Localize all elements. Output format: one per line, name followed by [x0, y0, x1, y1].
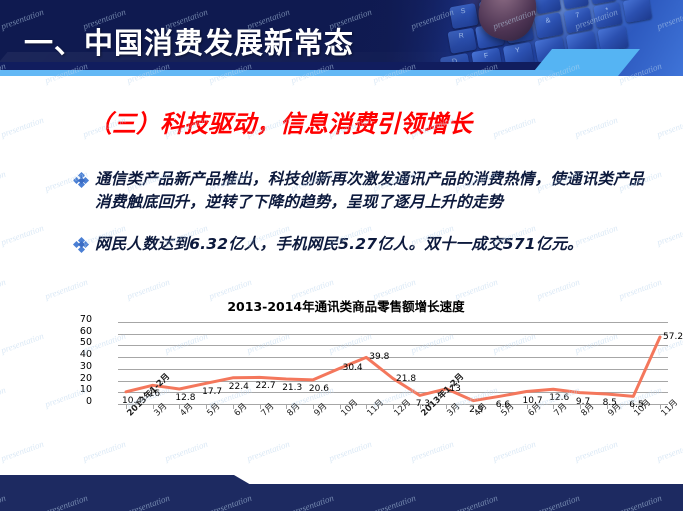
data-point-label: 22.7: [256, 381, 276, 391]
footer-left-block: [0, 475, 250, 511]
keyboard-key: [623, 0, 652, 23]
keyboard-key: &: [534, 12, 563, 38]
y-axis-tick-label: 40: [80, 350, 92, 360]
slide-header: S5^F7F8RT6&7*DFY 一、中国消费发展新常态: [0, 0, 683, 76]
keyboard-key: [597, 25, 628, 52]
data-point-label: 21.3: [282, 383, 302, 393]
watermark-text: presentation: [656, 115, 683, 140]
y-axis-labels: 010203040506070: [72, 320, 94, 406]
slide-footer: [0, 475, 683, 511]
slide-canvas: S5^F7F8RT6&7*DFY 一、中国消费发展新常态 （三）科技驱动，信息消…: [0, 0, 683, 511]
bullet-text: 网民人数达到6.32亿人，手机网民5.27亿人。双十一成交571亿元。: [95, 233, 654, 256]
y-axis-tick-label: 60: [80, 327, 92, 337]
watermark-text: presentation: [0, 223, 45, 248]
y-axis-tick-label: 50: [80, 338, 92, 348]
footer-right-block: [240, 484, 683, 511]
line-chart: 2013-2014年通讯类商品零售额增长速度 010203040506070 1…: [96, 296, 676, 476]
y-axis-tick-label: 70: [80, 315, 92, 325]
list-item: 通信类产品新产品推出，科技创新再次激发通讯产品的消费热情，使通讯类产品消费触底回…: [74, 168, 654, 215]
watermark-text: presentation: [0, 115, 45, 140]
y-axis-tick-label: 10: [80, 385, 92, 395]
data-point-label: 30.4: [343, 363, 363, 373]
watermark-text: presentation: [0, 331, 45, 356]
list-item: 网民人数达到6.32亿人，手机网民5.27亿人。双十一成交571亿元。: [74, 233, 654, 256]
y-axis-tick-label: 30: [80, 362, 92, 372]
bullet-list: 通信类产品新产品推出，科技创新再次激发通讯产品的消费热情，使通讯类产品消费触底回…: [74, 168, 654, 268]
watermark-text: presentation: [656, 223, 683, 248]
data-point-label: 17.7: [202, 387, 222, 397]
watermark-text: presentation: [574, 115, 619, 140]
diamond-bullet-icon: [74, 238, 88, 252]
watermark-text: presentation: [0, 439, 45, 464]
chart-title: 2013-2014年通讯类商品零售额增长速度: [96, 296, 596, 315]
section-subtitle: （三）科技驱动，信息消费引领增长: [88, 104, 472, 139]
y-axis-tick-label: 20: [80, 374, 92, 384]
data-point-label: 39.8: [369, 352, 389, 362]
watermark-text: presentation: [492, 115, 537, 140]
header-cyan-strip: [0, 70, 560, 76]
watermark-text: presentation: [0, 385, 7, 410]
data-point-label: 57.2: [663, 332, 683, 342]
x-axis-labels: 2013年1-2月3月4月5月6月7月8月9月10月11月12月2013年1-2…: [96, 408, 676, 470]
y-axis-tick-label: 0: [86, 397, 92, 407]
page-title: 一、中国消费发展新常态: [24, 20, 354, 62]
data-point-label: 22.4: [229, 382, 249, 392]
data-point-label: 21.8: [396, 374, 416, 384]
chart-data-labels: 10.41612.817.722.422.721.320.630.439.821…: [118, 322, 678, 408]
watermark-text: presentation: [44, 277, 89, 302]
watermark-text: presentation: [0, 277, 7, 302]
data-point-label: 20.6: [309, 384, 329, 394]
diamond-bullet-icon: [74, 173, 88, 187]
keyboard-key: *: [593, 2, 622, 28]
bullet-text: 通信类产品新产品推出，科技创新再次激发通讯产品的消费热情，使通讯类产品消费触底回…: [95, 168, 654, 215]
keyboard-key: 7: [564, 7, 593, 33]
watermark-text: presentation: [0, 169, 7, 194]
